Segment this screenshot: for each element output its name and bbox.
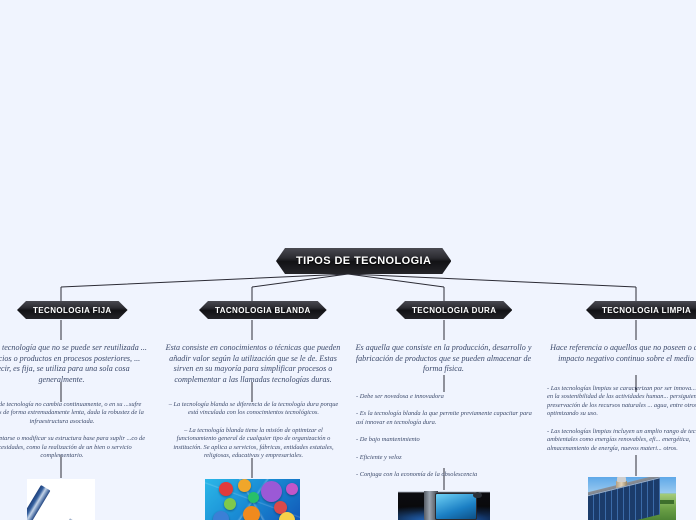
pen-barrel-shape xyxy=(27,485,50,520)
bullet-item: - Debe ser novedosa e innovadora xyxy=(356,393,534,401)
bullet-item: ...sí adaptarse o modificar su estructur… xyxy=(0,435,152,460)
mindmap-canvas: TIPOS DE TECNOLOGIA TECNOLOGIA FIJA TACN… xyxy=(0,0,696,520)
bullet-item: - Las tecnologías limpias se caracteriza… xyxy=(547,385,696,419)
bullet-item: - Eficiente y veloz xyxy=(356,454,534,462)
image-computer-hardware-photo xyxy=(398,491,490,520)
branch-node-limpia[interactable]: TECNOLOGIA LIMPIA xyxy=(586,301,696,319)
bullet-item: - Conjuga con la economía de la obsolesc… xyxy=(356,471,534,479)
intro-text-fija: ...po de tecnología que no se puede ser … xyxy=(0,343,149,386)
computer-mouse-shape xyxy=(473,492,482,498)
bullet-item: - Es la tecnología blanda la que permite… xyxy=(356,410,534,427)
social-bubble-icon xyxy=(261,481,282,502)
intro-text-limpia-body: Hace referencia o aquellos que no poseen… xyxy=(546,343,696,364)
intro-text-fija-body: ...po de tecnología que no se puede ser … xyxy=(0,343,149,386)
intro-text-blanda-body: Esta consiste en conocimientos o técnica… xyxy=(165,343,341,386)
bullet-item: – La tecnología blanda tiene la misión d… xyxy=(164,427,343,461)
social-bubble-icon xyxy=(243,506,260,520)
image-solar-panel-roof-photo xyxy=(588,477,676,520)
intro-text-blanda: Esta consiste en conocimientos o técnica… xyxy=(165,343,341,386)
social-bubble-icon xyxy=(248,492,259,503)
social-bubble-icon xyxy=(286,483,298,495)
bullets-dura: - Debe ser novedosa e innovadora - Es la… xyxy=(356,393,534,480)
branch-node-fija[interactable]: TECNOLOGIA FIJA xyxy=(17,301,128,319)
root-connector-fan xyxy=(61,274,636,287)
social-bubble-icon xyxy=(224,498,236,510)
branch-node-fija-label: TECNOLOGIA FIJA xyxy=(33,306,112,315)
bullets-fija: ...tipo de tecnología no cambia continua… xyxy=(0,401,152,461)
computer-monitor-shape xyxy=(435,493,477,520)
root-node[interactable]: TIPOS DE TECNOLOGIA xyxy=(276,248,451,274)
intro-text-limpia: Hace referencia o aquellos que no poseen… xyxy=(546,343,696,364)
social-bubble-icon xyxy=(219,482,233,496)
social-bubble-icon xyxy=(238,479,251,492)
bullets-limpia: - Las tecnologías limpias se caracteriza… xyxy=(547,385,696,453)
bullet-item: ...tipo de tecnología no cambia continua… xyxy=(0,401,152,426)
root-node-label: TIPOS DE TECNOLOGIA xyxy=(296,255,431,267)
bullet-item: – La tecnología blanda se diferencia de … xyxy=(164,401,343,418)
bullet-item: - De bajo mantenimiento xyxy=(356,436,534,444)
intro-text-dura: Es aquella que consiste en la producción… xyxy=(355,343,532,375)
image-pen-photo xyxy=(27,479,95,520)
social-bubble-icon xyxy=(213,511,229,520)
branch-node-dura-label: TECNOLOGIA DURA xyxy=(412,306,496,315)
chimney-cap-shape xyxy=(617,477,626,482)
branch-node-limpia-label: TECNOLOGIA LIMPIA xyxy=(602,306,691,315)
bullets-blanda: – La tecnología blanda se diferencia de … xyxy=(164,401,343,461)
branch-node-blanda[interactable]: TACNOLOGIA BLANDA xyxy=(199,301,327,319)
branch-node-blanda-label: TACNOLOGIA BLANDA xyxy=(215,306,311,315)
branch-node-dura[interactable]: TECNOLOGIA DURA xyxy=(396,301,512,319)
bullet-item: - Las tecnologías limpias incluyen un am… xyxy=(547,428,696,453)
intro-text-dura-body: Es aquella que consiste en la producción… xyxy=(355,343,532,375)
image-social-media-icons-photo xyxy=(205,479,300,520)
